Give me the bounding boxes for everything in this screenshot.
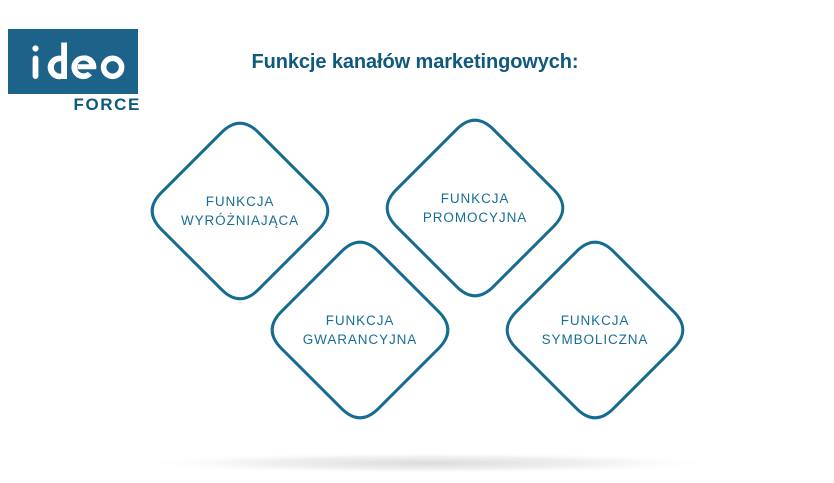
node-gwarancyjna[interactable] bbox=[272, 242, 448, 418]
node-wyrozniajaca[interactable] bbox=[152, 123, 328, 299]
infographic-canvas: FUNKCJA WYRÓŻNIAJĄCA FUNKCJA PROMOCYJNA … bbox=[0, 0, 834, 483]
diamond-group bbox=[152, 120, 683, 418]
ideo-wordmark-icon bbox=[8, 29, 138, 94]
brand-logo[interactable]: FORCE bbox=[8, 29, 140, 113]
node-symboliczna[interactable] bbox=[507, 242, 683, 418]
logo-force-text: FORCE bbox=[74, 95, 142, 114]
ground-shadow bbox=[128, 452, 728, 474]
page-title: Funkcje kanałów marketingowych: bbox=[205, 49, 625, 75]
node-promocyjna[interactable] bbox=[387, 120, 563, 296]
